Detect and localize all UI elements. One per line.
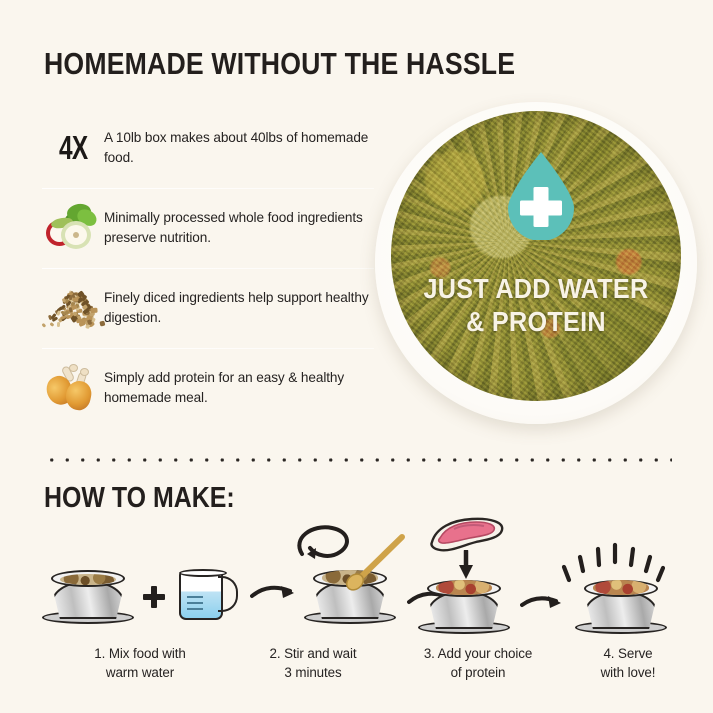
step-1-illustration: [42, 568, 134, 624]
benefit-badge: 4X: [59, 129, 87, 167]
benefits-list: 4X A 10lb box makes about 40lbs of homem…: [42, 108, 372, 428]
step-caption-line-2: warm water: [50, 663, 230, 682]
list-item: 4X A 10lb box makes about 40lbs of homem…: [42, 108, 372, 188]
hero-overlay-line-1: JUST ADD WATER: [391, 272, 681, 305]
list-item: Finely diced ingredients help support he…: [42, 268, 372, 348]
hero-overlay-text: JUST ADD WATER & PROTEIN: [375, 272, 697, 338]
step-caption-line-2: with love!: [566, 663, 690, 682]
dog-bowl-with-food-icon: [418, 578, 510, 634]
step-2-illustration: [304, 568, 396, 624]
chicken-drumsticks-icon: [42, 357, 104, 419]
benefit-text: Finely diced ingredients help support he…: [104, 288, 372, 328]
measuring-cup-with-water-icon: [177, 566, 239, 622]
howto-steps: 1. Mix food with warm water 2. Stir and …: [24, 520, 690, 700]
benefit-text: Simply add protein for an easy & healthy…: [104, 368, 372, 408]
dog-bowl-with-protein-icon: [575, 578, 667, 634]
step-caption: 3. Add your choice of protein: [390, 644, 566, 682]
list-item: Simply add protein for an easy & healthy…: [42, 348, 372, 428]
list-item: Minimally processed whole food ingredien…: [42, 188, 372, 268]
hero-overlay-line-2: & PROTEIN: [391, 305, 681, 338]
step-caption: 4. Serve with love!: [566, 644, 690, 682]
benefit-text: Minimally processed whole food ingredien…: [104, 208, 372, 248]
howto-title: HOW TO MAKE:: [44, 482, 235, 515]
step-caption-line-1: 1. Mix food with: [50, 644, 230, 663]
step-caption: 2. Stir and wait 3 minutes: [230, 644, 396, 682]
step-3-illustration: [418, 578, 510, 634]
step-caption-line-1: 4. Serve: [566, 644, 690, 663]
hero-food-bowl-image: JUST ADD WATER & PROTEIN: [375, 102, 697, 424]
dog-bowl-with-food-icon: [42, 568, 134, 624]
apple-and-greens-icon: [42, 197, 104, 259]
water-drop-plus-icon: [504, 150, 578, 240]
step-4-illustration: [575, 578, 667, 634]
diced-grains-pile-icon: [42, 277, 104, 339]
benefit-text: A 10lb box makes about 40lbs of homemade…: [104, 128, 372, 168]
page-title: HOMEMADE WITHOUT THE HASSLE: [44, 46, 515, 82]
4x-multiplier-text: 4X: [42, 117, 104, 179]
arrow-right-icon: [250, 582, 298, 609]
step-caption-line-2: 3 minutes: [230, 663, 396, 682]
step-caption: 1. Mix food with warm water: [50, 644, 230, 682]
step-caption-line-2: of protein: [390, 663, 566, 682]
plus-icon: [143, 586, 165, 608]
dotted-divider: [44, 458, 672, 462]
infographic-page: HOMEMADE WITHOUT THE HASSLE 4X A 10lb bo…: [0, 0, 713, 713]
arrow-right-icon: [520, 592, 564, 619]
step-caption-line-1: 3. Add your choice: [390, 644, 566, 663]
step-caption-line-1: 2. Stir and wait: [230, 644, 396, 663]
stir-swirl-arrow-icon: [290, 520, 360, 579]
